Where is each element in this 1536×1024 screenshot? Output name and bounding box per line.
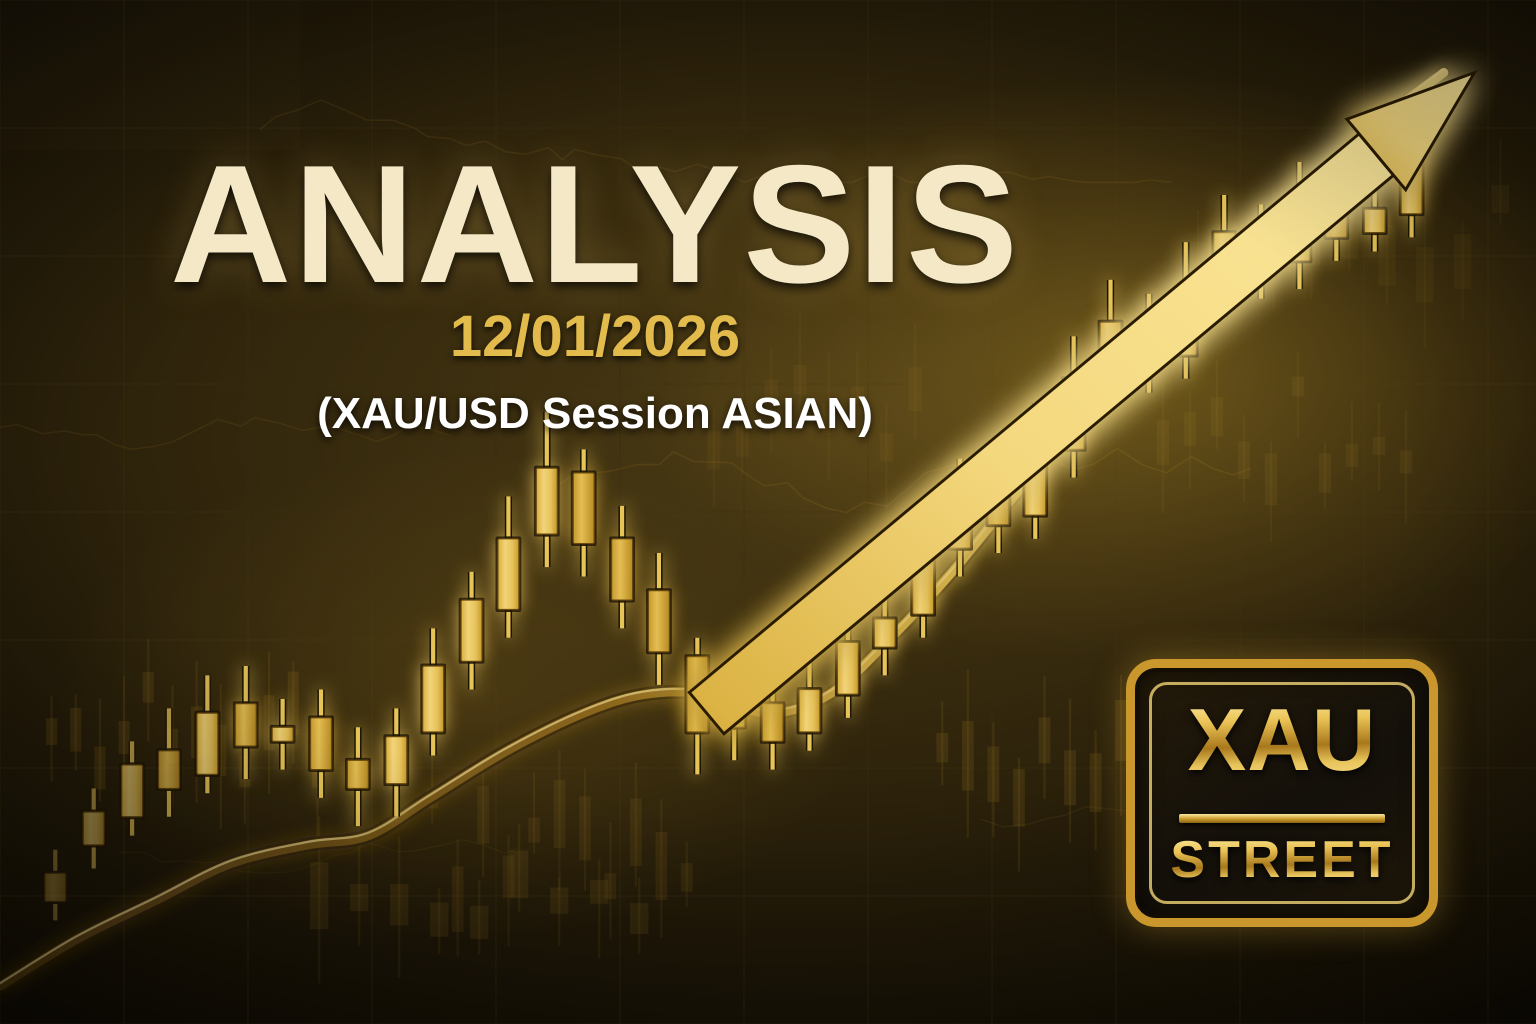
logo-divider (1179, 814, 1385, 823)
logo-top-text: XAU (1135, 696, 1429, 784)
analysis-banner: ANALYSIS 12/01/2026 (XAU/USD Session ASI… (0, 0, 1536, 1024)
logo-bottom-text: STREET (1135, 834, 1429, 886)
noise-texture (0, 0, 300, 150)
xau-street-logo[interactable]: XAU STREET (1126, 659, 1438, 927)
